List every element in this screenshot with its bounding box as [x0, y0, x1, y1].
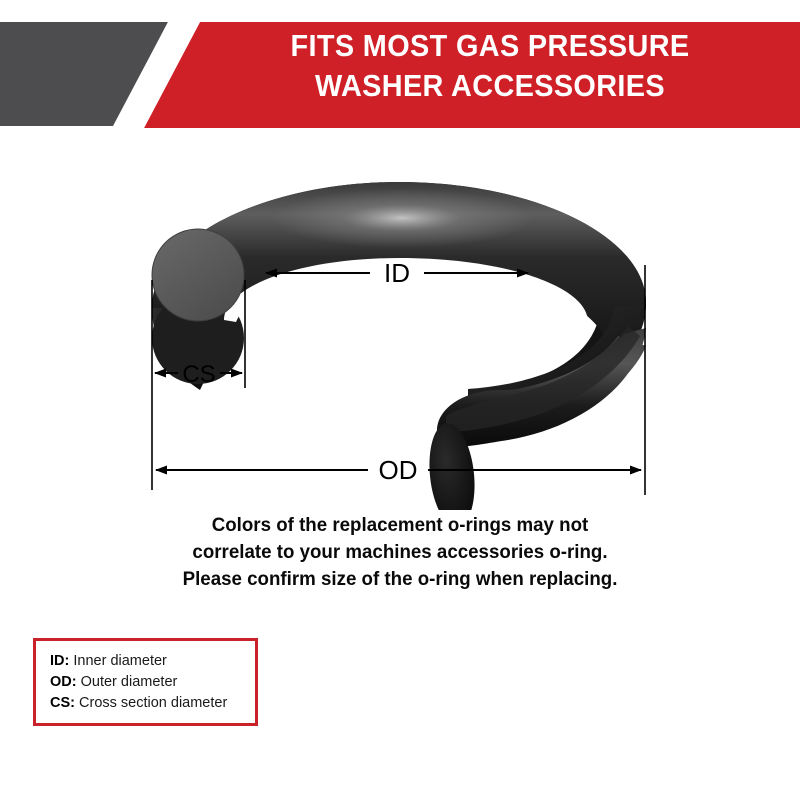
legend-desc-od: Outer diameter [81, 674, 178, 690]
cross-section-disc [152, 229, 244, 321]
legend-item-cs: CS: Cross section diameter [50, 693, 255, 714]
id-label: ID [384, 258, 410, 288]
header-red-banner [144, 22, 800, 128]
note-line-1: Colors of the replacement o-rings may no… [112, 512, 688, 539]
header-banner: FITS MOST GAS PRESSURE WASHER ACCESSORIE… [0, 0, 800, 140]
legend-desc-id: Inner diameter [73, 653, 167, 669]
note-line-2: correlate to your machines accessories o… [112, 539, 688, 566]
legend-item-od: OD: Outer diameter [50, 672, 255, 693]
legend-abbr-id: ID: [50, 653, 69, 669]
od-label: OD [379, 455, 418, 485]
abbreviation-legend: ID: Inner diameter OD: Outer diameter CS… [33, 638, 258, 726]
infographic-page: FITS MOST GAS PRESSURE WASHER ACCESSORIE… [0, 0, 800, 800]
disclaimer-note: Colors of the replacement o-rings may no… [112, 512, 688, 593]
cs-label: CS [182, 361, 215, 388]
legend-item-id: ID: Inner diameter [50, 651, 255, 672]
note-line-3: Please confirm size of the o-ring when r… [112, 566, 688, 593]
legend-abbr-cs: CS: [50, 695, 75, 711]
legend-desc-cs: Cross section diameter [79, 695, 227, 711]
legend-abbr-od: OD: [50, 674, 77, 690]
oring-diagram: ID CS OD [0, 140, 800, 510]
